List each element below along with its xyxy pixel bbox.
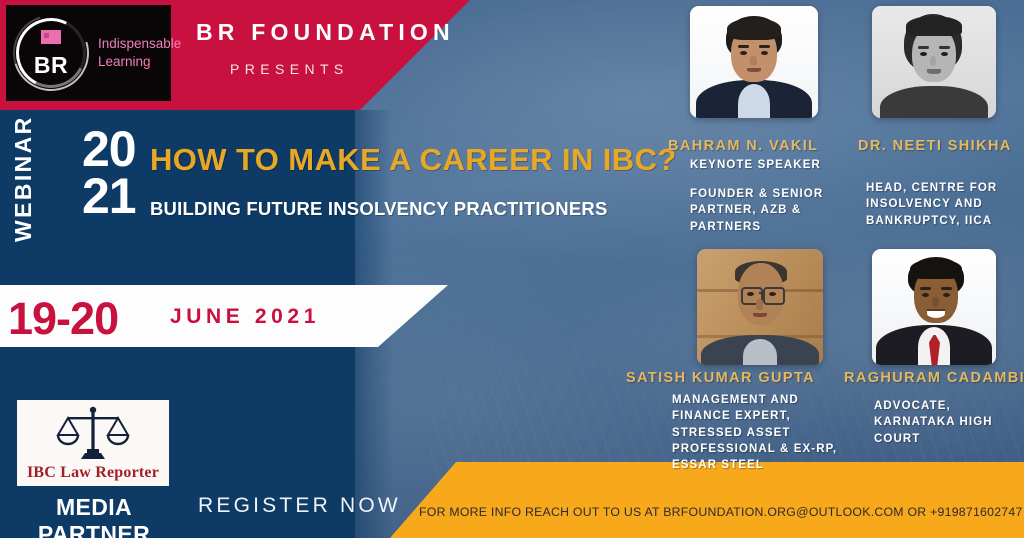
speaker-photo-dr-neeti-shikha xyxy=(872,6,996,118)
speaker-name-2: DR. NEETI SHIKHA xyxy=(858,138,1012,154)
event-headline: HOW TO MAKE A CAREER IN IBC? xyxy=(150,142,670,178)
event-subheadline: BUILDING FUTURE INSOLVENCY PRACTITIONERS xyxy=(150,198,670,220)
speaker-photo-raghuram-cadambi xyxy=(872,249,996,365)
contact-info-text: FOR MORE INFO REACH OUT TO US AT BRFOUND… xyxy=(419,505,1023,519)
speaker-name-3: SATISH KUMAR GUPTA xyxy=(626,370,815,386)
event-date-month: JUNE 2021 xyxy=(170,305,320,329)
event-date-number: 19-20 xyxy=(8,293,118,345)
presents-label: PRESENTS xyxy=(230,61,349,77)
webinar-word-text: WEBINAR xyxy=(10,124,37,242)
speaker-role-primary-1: KEYNOTE SPEAKER xyxy=(690,157,821,173)
speaker-role-secondary-3: MANAGEMENT AND FINANCE EXPERT, STRESSED … xyxy=(672,392,852,474)
scales-of-justice-icon xyxy=(51,405,135,463)
logo-tagline: Indispensable Learning xyxy=(98,35,181,71)
speaker-photo-satish-kumar-gupta xyxy=(697,249,823,365)
br-foundation-logo[interactable]: BR Indispensable Learning xyxy=(6,5,171,101)
speaker-name-4: RAGHURAM CADAMBI xyxy=(844,370,1024,386)
speaker-photo-bahram-n-vakil xyxy=(690,6,818,118)
logo-tagline-line1: Indispensable xyxy=(98,35,181,53)
logo-initials: BR xyxy=(10,52,92,79)
pink-square-icon xyxy=(41,30,61,44)
media-partner-name: IBC Law Reporter xyxy=(17,464,169,482)
year-line-2: 21 xyxy=(82,173,136,220)
event-year: 20 21 xyxy=(82,126,136,220)
logo-tagline-line2: Learning xyxy=(98,53,181,71)
register-now-button[interactable]: REGISTER NOW xyxy=(198,494,401,518)
speaker-role-secondary-2: HEAD, CENTRE FOR INSOLVENCY AND BANKRUPT… xyxy=(866,180,1016,229)
speaker-role-secondary-4: ADVOCATE, KARNATAKA HIGH COURT xyxy=(874,398,1024,447)
year-line-1: 20 xyxy=(82,126,136,173)
speaker-name-1: BAHRAM N. VAKIL xyxy=(668,138,818,154)
br-circular-mark-icon: BR xyxy=(10,12,92,94)
media-partner-logo[interactable]: IBC Law Reporter xyxy=(17,400,169,486)
webinar-poster: BR Indispensable Learning BR FOUNDATION … xyxy=(0,0,1024,538)
organization-title: BR FOUNDATION xyxy=(196,19,455,46)
media-partner-label: MEDIA PARTNER xyxy=(12,494,176,538)
speaker-role-secondary-1: FOUNDER & SENIOR PARTNER, AZB & PARTNERS xyxy=(690,186,830,235)
